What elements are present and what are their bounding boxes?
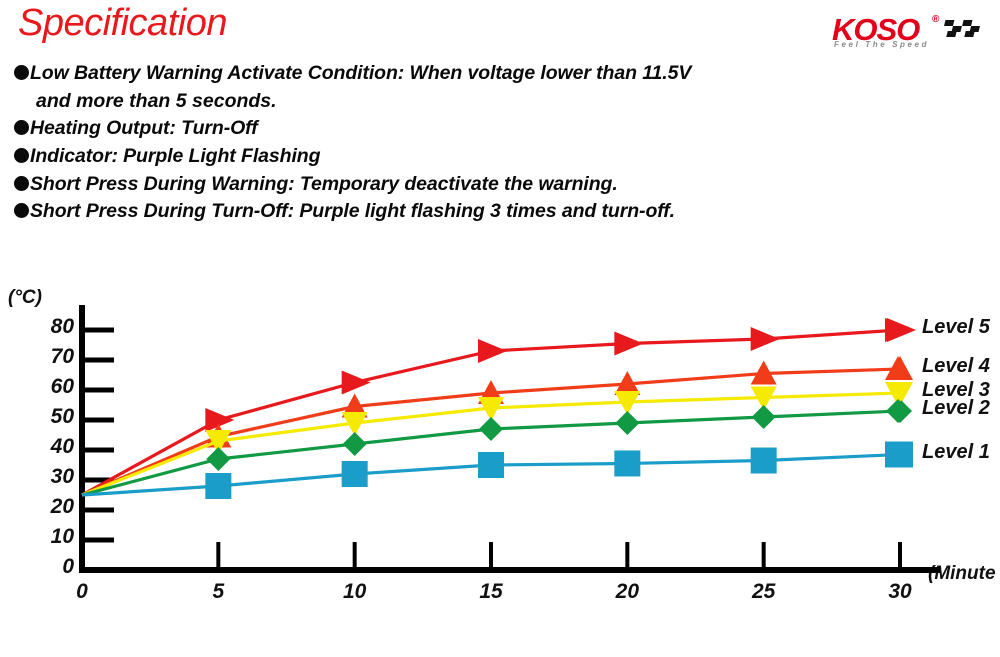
checkered-flag-icon [938, 18, 994, 42]
bullet-dot-icon [14, 148, 29, 163]
chart-series-layer [82, 318, 916, 499]
bullet-dot-icon [14, 176, 29, 191]
x-tick-label: 10 [335, 580, 375, 604]
data-point-marker [752, 405, 776, 429]
list-item: Indicator: Purple Light Flashing [14, 143, 844, 171]
list-item-label: Short Press During Turn-Off: Purple ligh… [30, 198, 844, 226]
y-tick-label: 30 [28, 465, 74, 489]
data-point-marker [343, 432, 367, 456]
list-item: Low Battery Warning Activate Condition: … [14, 60, 844, 88]
list-item-continuation: and more than 5 seconds. [36, 88, 844, 116]
series-level-1 [82, 442, 913, 500]
list-item: Short Press During Turn-Off: Purple ligh… [14, 198, 844, 226]
specification-page: Specification KOSO ® Feel The Speed Low … [0, 0, 1000, 657]
data-point-marker [885, 442, 911, 468]
heating-temperature-chart: (°C) (Minute 01020304050607080 051015202… [0, 275, 1000, 615]
legend-item-level-1: Level 1 [922, 441, 990, 464]
data-point-marker [885, 318, 914, 342]
data-point-marker [886, 399, 910, 423]
list-item-label: Low Battery Warning Activate Condition: … [30, 60, 844, 88]
legend-item-level-5: Level 5 [922, 316, 990, 339]
bullet-dot-icon [14, 203, 29, 218]
chart-axes [79, 305, 940, 570]
y-tick-label: 40 [28, 435, 74, 459]
data-point-marker [479, 417, 503, 441]
y-tick-label: 80 [28, 315, 74, 339]
legend-item-level-4: Level 4 [922, 355, 990, 378]
logo-tagline: Feel The Speed [834, 40, 929, 49]
data-point-marker [614, 332, 643, 356]
y-tick-label: 60 [28, 375, 74, 399]
x-tick-label: 0 [62, 580, 102, 604]
data-point-marker [615, 411, 639, 435]
page-title: Specification [18, 2, 227, 45]
x-tick-label: 25 [744, 580, 784, 604]
data-point-marker [478, 452, 504, 478]
data-point-marker [751, 327, 780, 351]
x-tick-label: 15 [471, 580, 511, 604]
data-point-marker [751, 448, 777, 474]
x-tick-label: 20 [607, 580, 647, 604]
specification-bullet-list: Low Battery Warning Activate Condition: … [14, 60, 844, 226]
chart-plot-area [0, 275, 1000, 615]
y-tick-label: 70 [28, 345, 74, 369]
data-point-marker [614, 451, 640, 477]
x-tick-label: 5 [198, 580, 238, 604]
list-item: Heating Output: Turn-Off [14, 115, 844, 143]
x-tick-label: 30 [880, 580, 920, 604]
list-item: Short Press During Warning: Temporary de… [14, 171, 844, 199]
list-item-label: Indicator: Purple Light Flashing [30, 143, 844, 171]
data-point-marker [205, 473, 231, 499]
bullet-dot-icon [14, 65, 29, 80]
list-item-label: Short Press During Warning: Temporary de… [30, 171, 844, 199]
y-tick-label: 10 [28, 525, 74, 549]
legend-item-level-2: Level 2 [922, 397, 990, 420]
bullet-dot-icon [14, 120, 29, 135]
data-point-marker [342, 461, 368, 487]
data-point-marker [206, 447, 230, 471]
data-point-marker [478, 339, 507, 363]
y-tick-label: 0 [28, 555, 74, 579]
y-tick-label: 50 [28, 405, 74, 429]
data-point-marker [342, 371, 371, 395]
koso-logo: KOSO ® Feel The Speed [820, 12, 996, 54]
list-item-label: Heating Output: Turn-Off [30, 115, 844, 143]
y-tick-label: 20 [28, 495, 74, 519]
